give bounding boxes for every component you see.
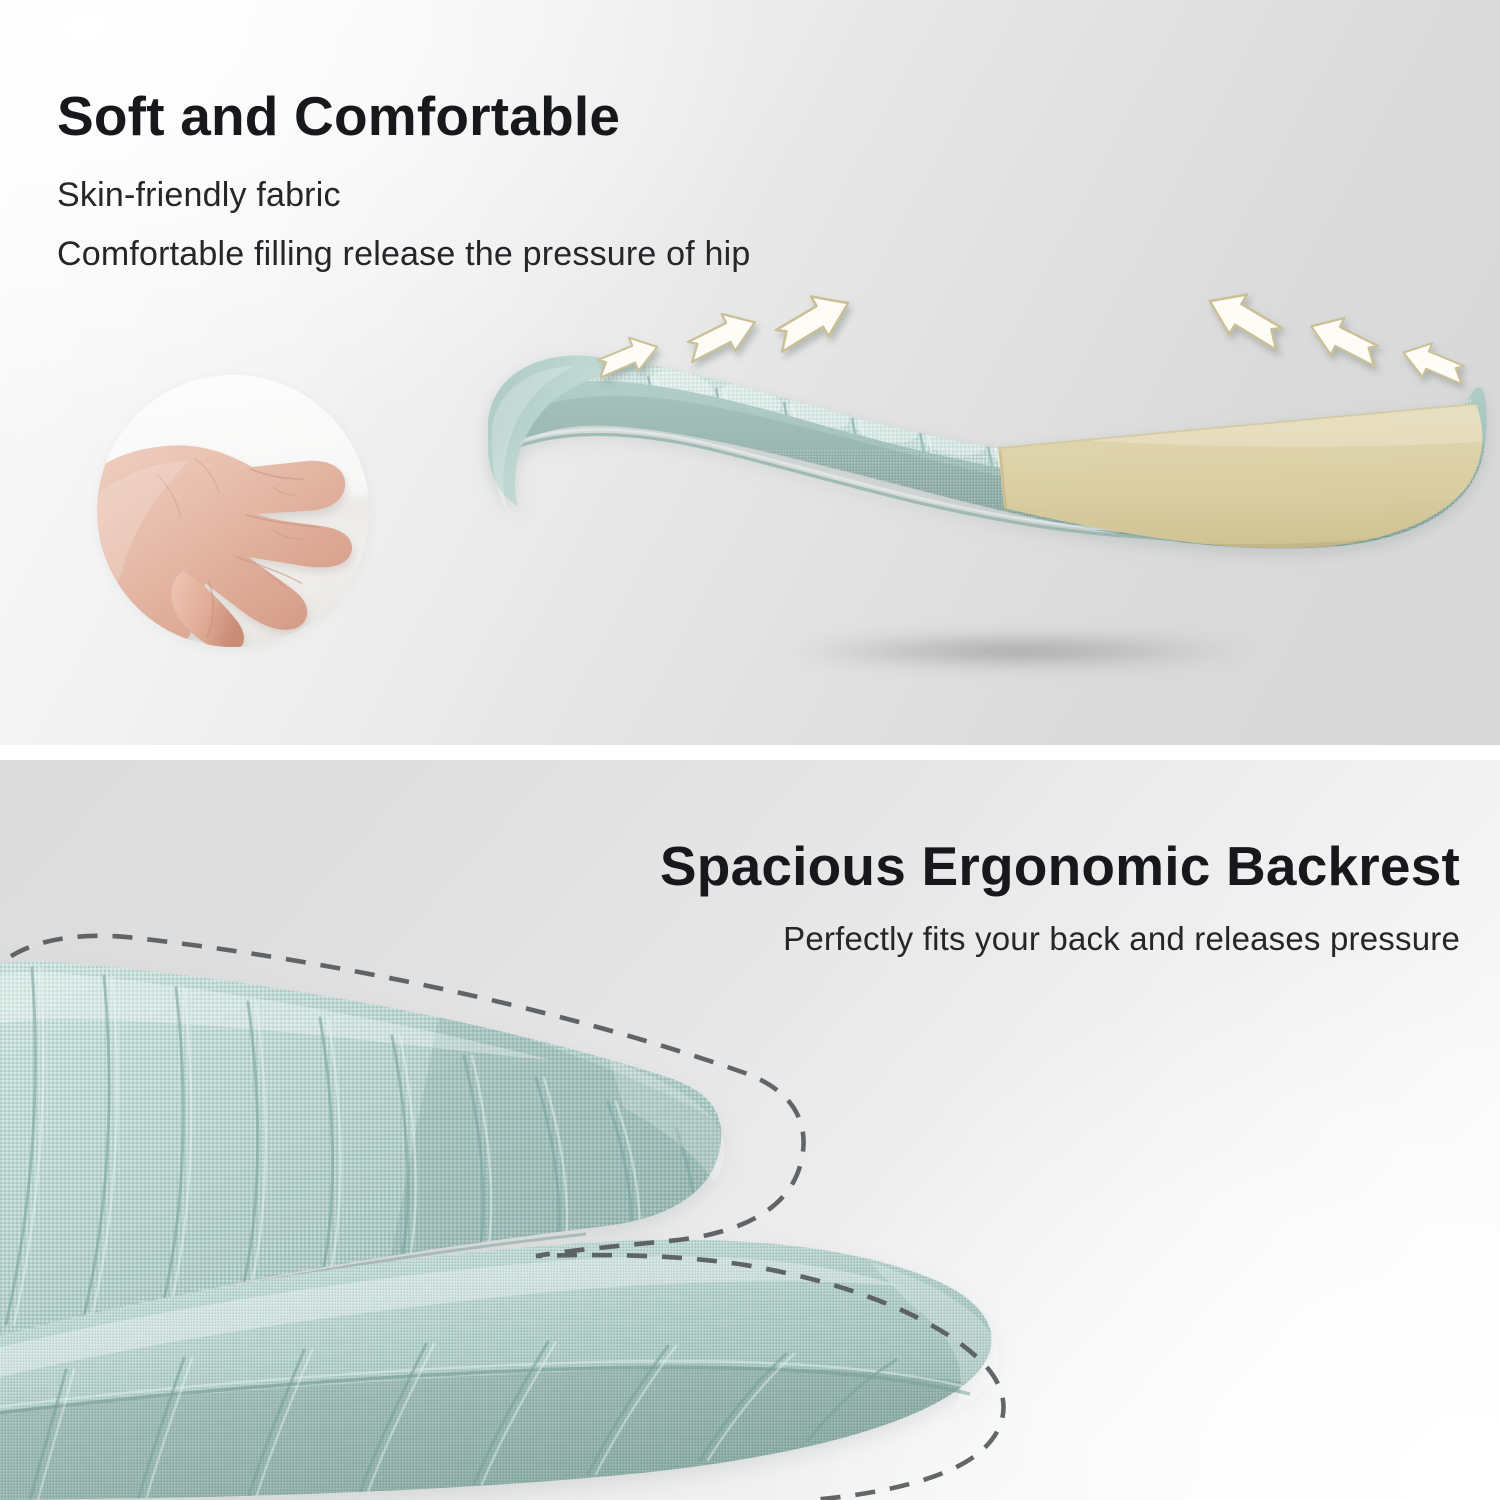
cushion-illustration (470, 300, 1500, 700)
subtitle-comfortable-filling: Comfortable filling release the pressure… (57, 235, 751, 274)
hand-icon (97, 375, 369, 647)
product-feature-page: Soft and Comfortable Skin-friendly fabri… (0, 0, 1500, 1500)
chair-illustration (0, 900, 1090, 1500)
subtitle-skin-friendly: Skin-friendly fabric (57, 176, 751, 215)
section-title-backrest: Spacious Ergonomic Backrest (660, 838, 1460, 896)
cushion-cutaway-figure (470, 300, 1500, 700)
chair-backrest-closeup (0, 900, 1090, 1500)
arrow-up-left-3 (1403, 331, 1470, 401)
panel-soft-and-comfortable: Soft and Comfortable Skin-friendly fabri… (0, 0, 1500, 745)
panel-one-header: Soft and Comfortable Skin-friendly fabri… (57, 88, 751, 274)
arrow-up-right-2 (682, 302, 755, 378)
arrow-up-right-3 (770, 285, 848, 367)
arrow-up-left-2 (1311, 306, 1384, 382)
section-divider (0, 745, 1500, 760)
hand-pressing-foam-inset (97, 375, 369, 647)
foam-core-cutaway (970, 380, 1500, 590)
subtitle-perfectly-fits: Perfectly fits your back and releases pr… (660, 920, 1460, 958)
page-title: Soft and Comfortable (57, 88, 751, 146)
panel-two-header: Spacious Ergonomic Backrest Perfectly fi… (660, 838, 1460, 958)
arrow-up-left-1 (1210, 283, 1288, 365)
